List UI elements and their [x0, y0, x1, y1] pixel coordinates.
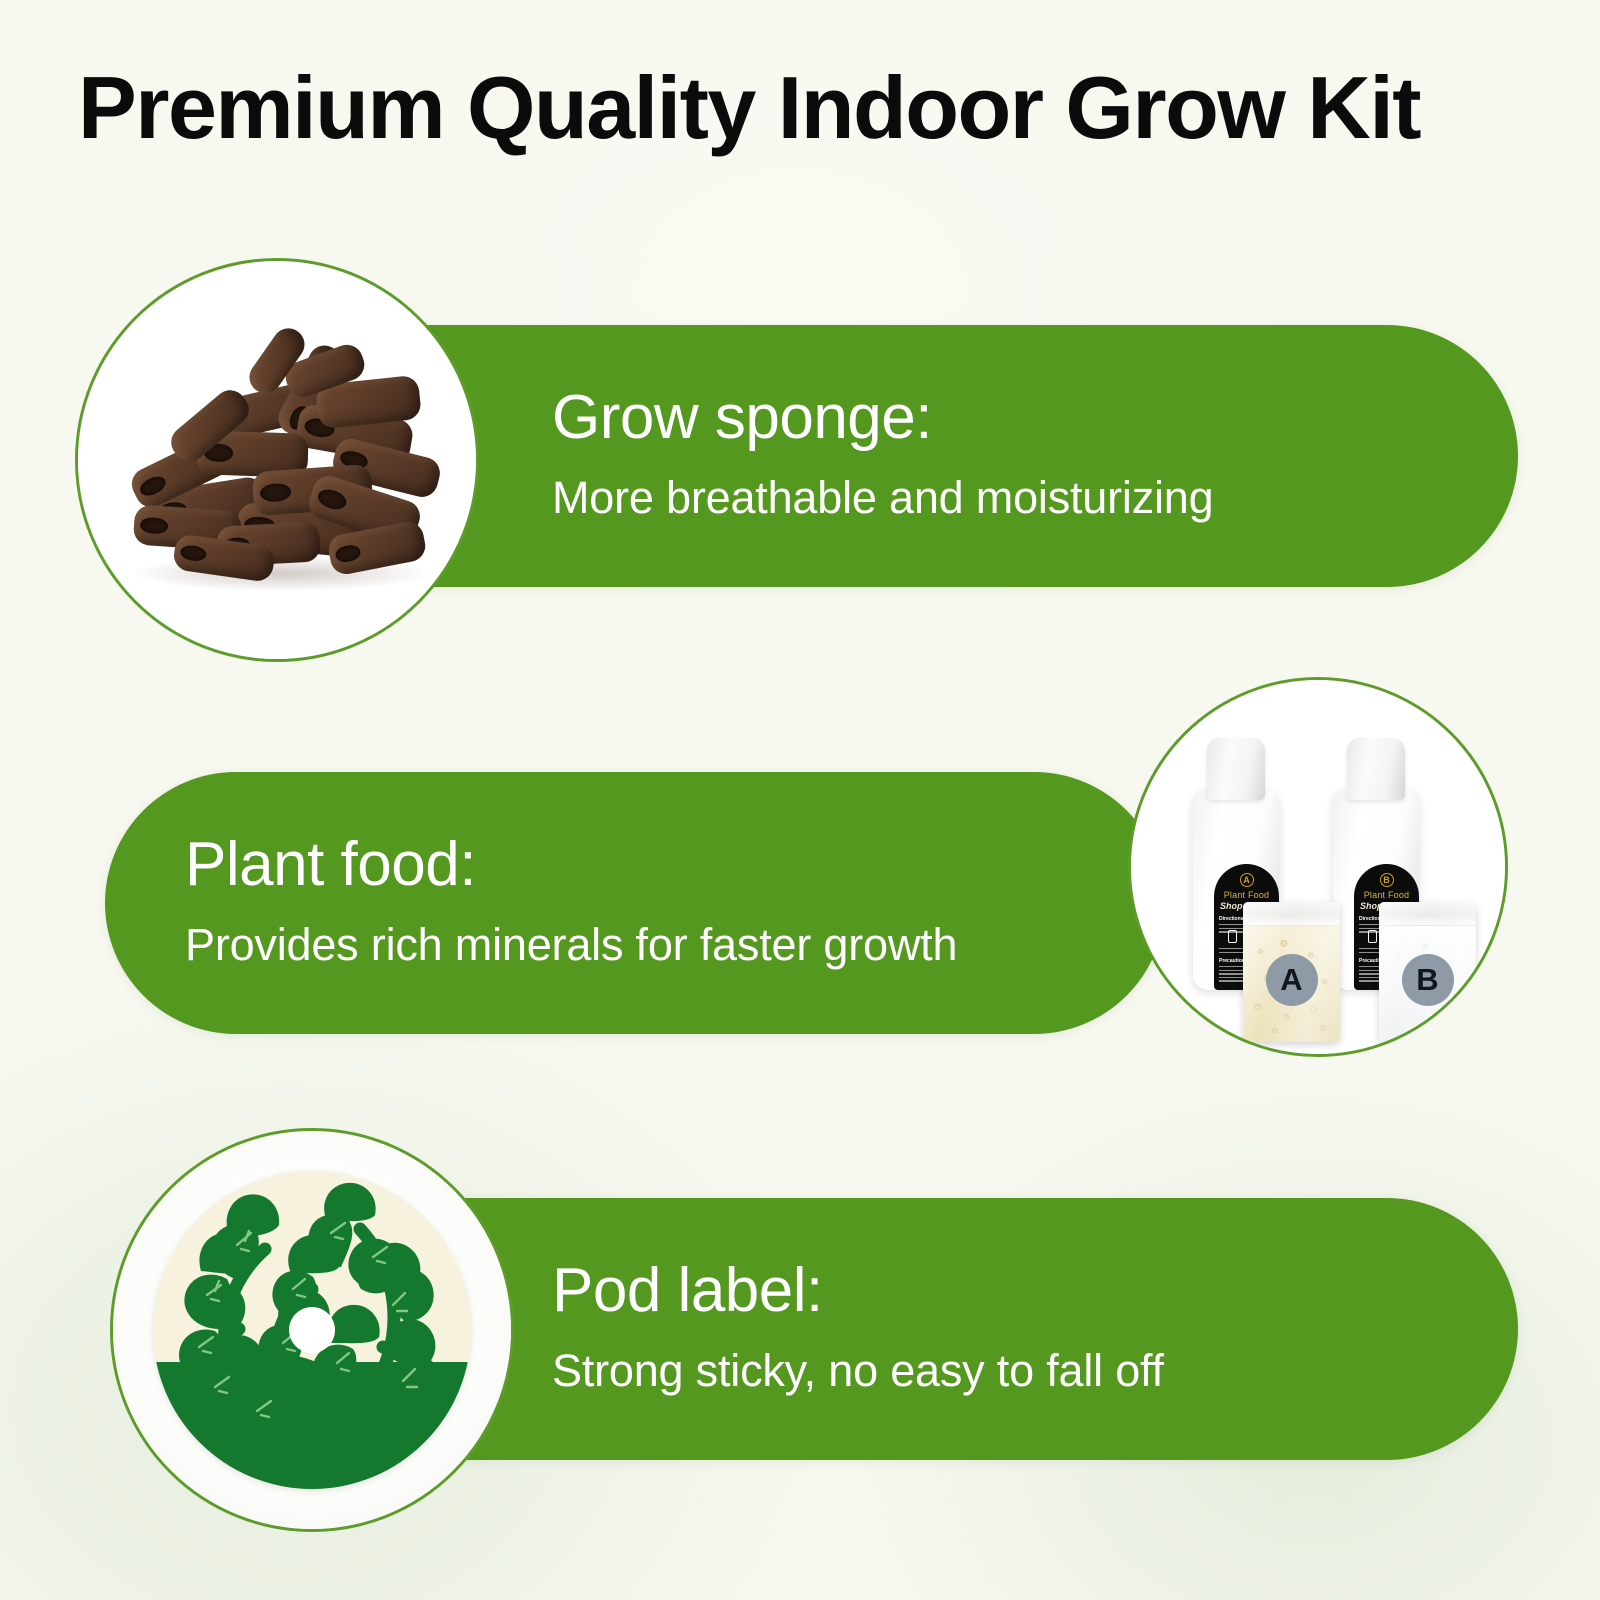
bottle-shop-a: Shop — [1220, 901, 1243, 911]
bottle-cap-icon — [1347, 738, 1405, 800]
bottle-directions-heading-a: Directions — [1219, 916, 1243, 922]
grow-sponge-image-circle — [75, 258, 479, 662]
grow-sponge-plugs-photo — [78, 261, 476, 659]
plant-food-pouch-b: B — [1379, 902, 1476, 1042]
feature-title-plant-food: Plant food: — [185, 834, 957, 896]
feature-title-pod-label: Pod label: — [552, 1260, 1164, 1322]
bottle-badge-letter-a: A — [1240, 873, 1254, 887]
pouch-letter-b: B — [1402, 954, 1454, 1006]
page-title: Premium Quality Indoor Grow Kit — [78, 60, 1528, 155]
feature-banner-grow-sponge: Grow sponge: More breathable and moistur… — [300, 325, 1518, 587]
bottle-brand-a: Plant Food — [1214, 890, 1279, 900]
feature-banner-plant-food: Plant food: Provides rich minerals for f… — [105, 772, 1165, 1034]
bottle-dose-icon-a — [1228, 930, 1237, 943]
feature-banner-text-pod-label: Pod label: Strong sticky, no easy to fal… — [552, 1260, 1164, 1393]
feature-title-grow-sponge: Grow sponge: — [552, 387, 1213, 449]
bottle-brand-b: Plant Food — [1354, 890, 1419, 900]
plant-food-image-circle: A Plant Food Shop Directions Precautions… — [1128, 677, 1508, 1057]
bottle-cap-icon — [1207, 738, 1265, 800]
sticker-center-hole — [289, 1307, 335, 1353]
feature-subtitle-plant-food: Provides rich minerals for faster growth — [185, 922, 957, 967]
feature-subtitle-pod-label: Strong sticky, no easy to fall off — [552, 1348, 1164, 1393]
feature-banner-text-grow-sponge: Grow sponge: More breathable and moistur… — [552, 387, 1213, 520]
feature-subtitle-grow-sponge: More breathable and moisturizing — [552, 475, 1213, 520]
infographic-page: Premium Quality Indoor Grow Kit Grow spo… — [0, 0, 1600, 1600]
plant-food-bottles-photo: A Plant Food Shop Directions Precautions… — [1131, 680, 1505, 1054]
bottle-badge-letter-b: B — [1380, 873, 1394, 887]
pod-label-sticker — [153, 1171, 471, 1489]
feature-banner-text-plant-food: Plant food: Provides rich minerals for f… — [185, 834, 957, 967]
bottle-dose-icon-b — [1368, 930, 1377, 943]
plant-food-pouch-a: A — [1243, 902, 1340, 1042]
pod-label-sticker-photo — [113, 1131, 511, 1529]
pouch-letter-a: A — [1266, 954, 1318, 1006]
pod-label-image-circle — [110, 1128, 514, 1532]
